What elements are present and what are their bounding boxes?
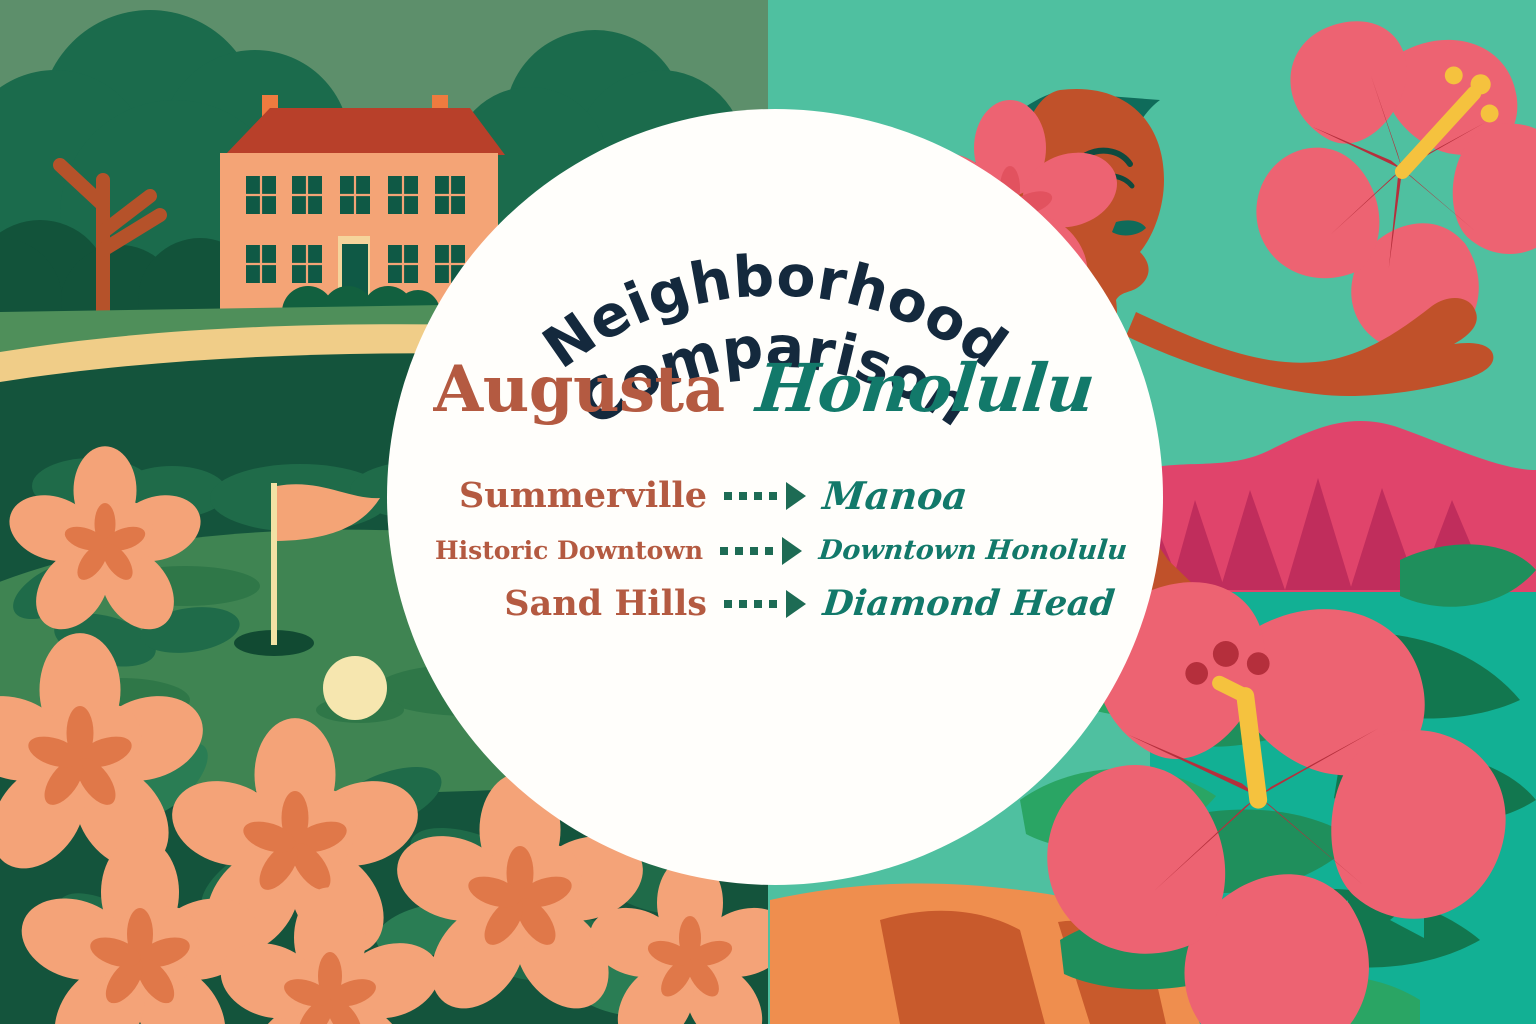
arrow-dot [720, 547, 728, 555]
golf-ball [323, 656, 387, 720]
city-headings: Augusta Honolulu [400, 355, 1150, 422]
comparison-source: Historic Downtown [423, 538, 715, 564]
comparison-row[interactable]: Sand Hills Diamond Head [400, 586, 1150, 623]
city-right-name: Honolulu [743, 355, 1153, 421]
arrow-dot [724, 600, 732, 608]
comparison-target: Downtown Honolulu [806, 537, 1129, 565]
arrow-dot [765, 547, 773, 555]
arrow-dot [769, 600, 777, 608]
comparison-source: Summerville [427, 478, 719, 515]
comparison-panel: Augusta Honolulu Summerville Manoa Histo… [400, 355, 1150, 623]
comparison-target: Diamond Head [809, 586, 1125, 623]
arrow-dot [754, 600, 762, 608]
poster-canvas: Neighborhood Comparison Augusta Honolulu… [0, 0, 1536, 1024]
arrow-dot [739, 600, 747, 608]
arrow-head [782, 537, 802, 565]
arrow-head [786, 482, 806, 510]
comparison-row[interactable]: Summerville Manoa [400, 476, 1150, 516]
arrow-dot [735, 547, 743, 555]
arrow-right-dotted-icon [719, 479, 811, 513]
arrow-dot [724, 492, 732, 500]
arrow-dot [769, 492, 777, 500]
arrow-head [786, 590, 806, 618]
comparison-row[interactable]: Historic Downtown Downtown Honolulu [400, 534, 1150, 568]
arrow-dot [739, 492, 747, 500]
arrow-right-dotted-icon [715, 534, 807, 568]
arrow-dot [750, 547, 758, 555]
golf-flagpole [271, 483, 277, 645]
comparison-source: Sand Hills [427, 586, 719, 623]
comparison-target: Manoa [809, 476, 1125, 516]
arrow-right-dotted-icon [719, 587, 811, 621]
arrow-dot [754, 492, 762, 500]
city-left-name: Augusta [400, 358, 747, 422]
